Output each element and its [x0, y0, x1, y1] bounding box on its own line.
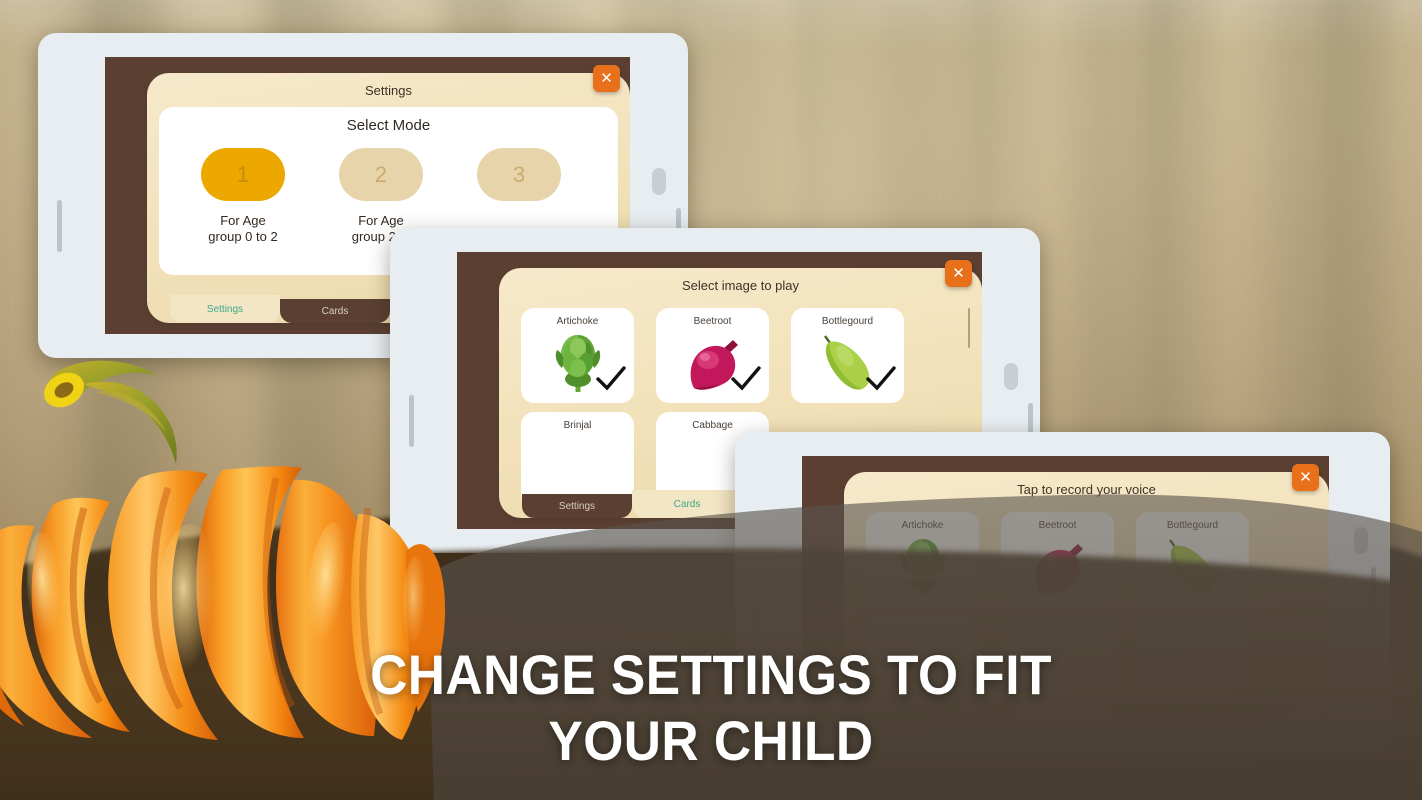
phone2-scrollbar[interactable]	[968, 308, 970, 348]
mode-caption-1-line1: For Age	[220, 213, 266, 228]
mode-caption-1: For Age group 0 to 2	[181, 213, 305, 246]
check-icon	[596, 366, 626, 397]
mode-caption-2-line1: For Age	[358, 213, 404, 228]
mode-button-2[interactable]: 2	[339, 148, 423, 201]
close-icon: ✕	[1299, 470, 1312, 485]
phone1-volume-button[interactable]	[57, 200, 62, 252]
phone1-camera-icon	[652, 168, 666, 195]
card-label: Artichoke	[521, 316, 634, 327]
tab-cards[interactable]: Cards	[280, 299, 390, 323]
tab-settings[interactable]: Settings	[170, 295, 280, 323]
phone2-camera-icon	[1004, 363, 1018, 390]
phone2-close-button[interactable]: ✕	[945, 260, 972, 287]
close-icon: ✕	[600, 71, 613, 86]
check-icon	[866, 366, 896, 397]
phone3-close-button[interactable]: ✕	[1292, 464, 1319, 491]
headline-line-1: CHANGE SETTINGS TO FIT	[57, 646, 1365, 703]
phone2-screen-title: Select image to play	[499, 278, 982, 293]
card-label: Bottlegourd	[791, 316, 904, 327]
card-label: Cabbage	[656, 420, 769, 431]
tab-settings[interactable]: Settings	[522, 494, 632, 518]
mode-caption-1-line2: group 0 to 2	[208, 229, 277, 244]
mode-button-3[interactable]: 3	[477, 148, 561, 201]
card-artichoke[interactable]: Artichoke	[521, 308, 634, 403]
card-bottlegourd[interactable]: Bottlegourd	[791, 308, 904, 403]
check-icon	[731, 366, 761, 397]
close-icon: ✕	[952, 266, 965, 281]
mode-button-1[interactable]: 1	[201, 148, 285, 201]
card-beetroot[interactable]: Beetroot	[656, 308, 769, 403]
screenshot-stage: Settings Select Mode 1 For Age group 0 t…	[0, 0, 1422, 800]
card-label: Beetroot	[656, 316, 769, 327]
phone1-close-button[interactable]: ✕	[593, 65, 620, 92]
card-label: Brinjal	[521, 420, 634, 431]
headline-line-2: YOUR CHILD	[57, 712, 1365, 769]
phone1-screen-title: Settings	[147, 83, 630, 98]
phone1-section-title: Select Mode	[159, 117, 618, 134]
